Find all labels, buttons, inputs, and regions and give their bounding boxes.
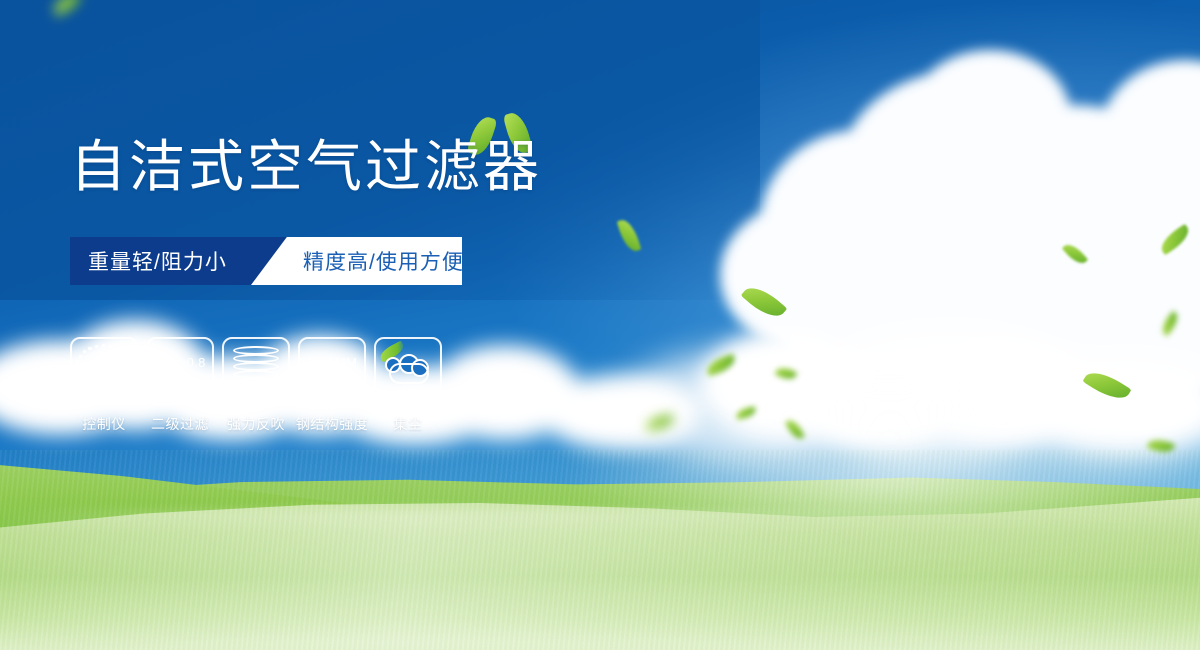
gauge-no-label: NO xyxy=(75,366,86,373)
gauge-off-label: OFF xyxy=(117,386,132,393)
feature-item-filtration[interactable]: 0.6～0.8 MPA 二级过滤 xyxy=(146,337,214,434)
feature-label: 控制仪 xyxy=(82,414,126,434)
feature-item-blowback[interactable]: 强力反吹 xyxy=(222,337,290,434)
feature-item-steel[interactable]: 3～8MM 钢板 钢结构强度 xyxy=(298,337,366,434)
subtitle-bar: 重量轻/阻力小 精度高/使用方便 xyxy=(70,237,462,285)
feature-box-steel: 3～8MM 钢板 xyxy=(298,337,366,405)
feature-list: NO OFF 控制仪 0.6～0.8 MPA 二级过滤 xyxy=(70,337,442,434)
feature-label: 强力反吹 xyxy=(227,414,285,434)
feature-box-filtration: 0.6～0.8 MPA xyxy=(146,337,214,405)
coil-icon xyxy=(233,346,279,396)
feature-box-blowback xyxy=(222,337,290,405)
feature-label: 二级过滤 xyxy=(151,414,209,434)
feature-label: 钢结构强度 xyxy=(296,414,369,434)
feature-box-dust: Air xyxy=(374,337,442,405)
grass-texture xyxy=(0,450,1200,650)
feature-item-controller[interactable]: NO OFF 控制仪 xyxy=(70,337,138,434)
gauge-icon: NO OFF xyxy=(76,343,132,399)
feature-label: 集尘 xyxy=(394,414,423,434)
subtitle-left-text: 重量轻/阻力小 xyxy=(70,246,227,276)
promo-banner: 自洁式空气过滤器 重量轻/阻力小 精度高/使用方便 xyxy=(0,0,1200,650)
subtitle-right-panel: 精度高/使用方便 xyxy=(251,237,462,285)
cloud-air-icon: Air xyxy=(381,348,435,394)
air-label: Air xyxy=(381,385,435,397)
cloud-body-icon xyxy=(389,363,429,384)
feature-item-dust[interactable]: Air 集尘 xyxy=(374,337,442,434)
steel-icon: 3～8MM 钢板 xyxy=(307,355,358,387)
subtitle-right-text: 精度高/使用方便 xyxy=(251,246,464,276)
pressure-icon: 0.6～0.8 MPA xyxy=(154,355,205,387)
feature-box-controller: NO OFF xyxy=(70,337,138,405)
gauge-needle-icon xyxy=(99,352,109,390)
page-title: 自洁式空气过滤器 xyxy=(70,139,542,195)
